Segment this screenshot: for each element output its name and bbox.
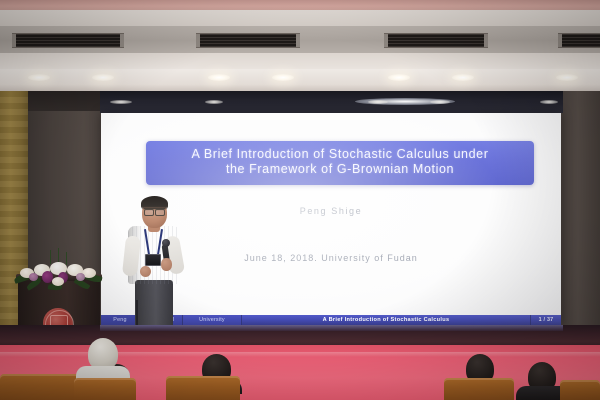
audience-chair <box>74 378 136 400</box>
vent-edge <box>196 34 200 47</box>
downlight-icon <box>272 74 294 81</box>
screen-header-band <box>100 91 563 113</box>
vent-edge <box>12 34 16 47</box>
footer-venue: University <box>183 315 242 325</box>
audience-chair <box>560 380 600 400</box>
flower-bloom-pink <box>76 273 85 281</box>
downlight-icon <box>452 74 474 81</box>
light-reflection <box>205 100 223 104</box>
light-reflection <box>368 100 388 104</box>
ceiling-band-upper <box>0 10 600 26</box>
floral-arrangement <box>12 258 106 290</box>
vent-edge <box>484 34 488 47</box>
glasses-icon <box>144 208 165 214</box>
air-vent-icon <box>558 33 600 48</box>
vent-edge <box>296 34 300 47</box>
vent-edge <box>384 34 388 47</box>
air-vent-icon <box>12 33 124 48</box>
microphone-head-icon <box>162 239 170 247</box>
flower-bloom-pink <box>29 273 38 281</box>
slide-title-line-2: the Framework of G-Brownian Motion <box>154 162 526 177</box>
dark-panel-wall-left-header <box>28 91 102 111</box>
vent-edge <box>120 34 124 47</box>
footer-title: A Brief Introduction of Stochastic Calcu… <box>242 315 531 325</box>
speaker-figure <box>118 196 190 342</box>
downlight-icon <box>556 74 578 81</box>
light-reflection <box>540 100 558 104</box>
ceiling-band-lower <box>0 53 600 69</box>
vent-edge <box>558 34 562 47</box>
audience-chair <box>166 376 240 400</box>
air-vent-icon <box>196 33 300 48</box>
downlight-icon <box>92 74 114 81</box>
dark-panel-wall-right <box>563 91 600 343</box>
stage-front-reflection <box>100 325 563 331</box>
downlight-icon <box>388 74 410 81</box>
audience-chair <box>444 378 514 400</box>
flower-stem <box>50 250 51 264</box>
speaker-hand-right <box>161 258 172 271</box>
ceiling-lower-plane <box>0 69 600 91</box>
slide-title-band: A Brief Introduction of Stochastic Calcu… <box>146 141 534 185</box>
slide-title-line-1: A Brief Introduction of Stochastic Calcu… <box>154 147 526 162</box>
speaker-name-badge <box>145 254 161 266</box>
flower-stem <box>66 252 67 265</box>
light-reflection <box>430 100 450 104</box>
flower-bloom <box>52 277 64 286</box>
ceiling-top-trim <box>0 0 600 10</box>
air-vent-icon <box>384 33 488 48</box>
speaker-hand-left <box>140 266 151 277</box>
downlight-icon <box>208 74 230 81</box>
lecture-hall-photo: A Brief Introduction of Stochastic Calcu… <box>0 0 600 400</box>
footer-page-number: 1 / 37 <box>531 315 561 325</box>
downlight-icon <box>28 74 50 81</box>
light-reflection <box>110 100 132 104</box>
